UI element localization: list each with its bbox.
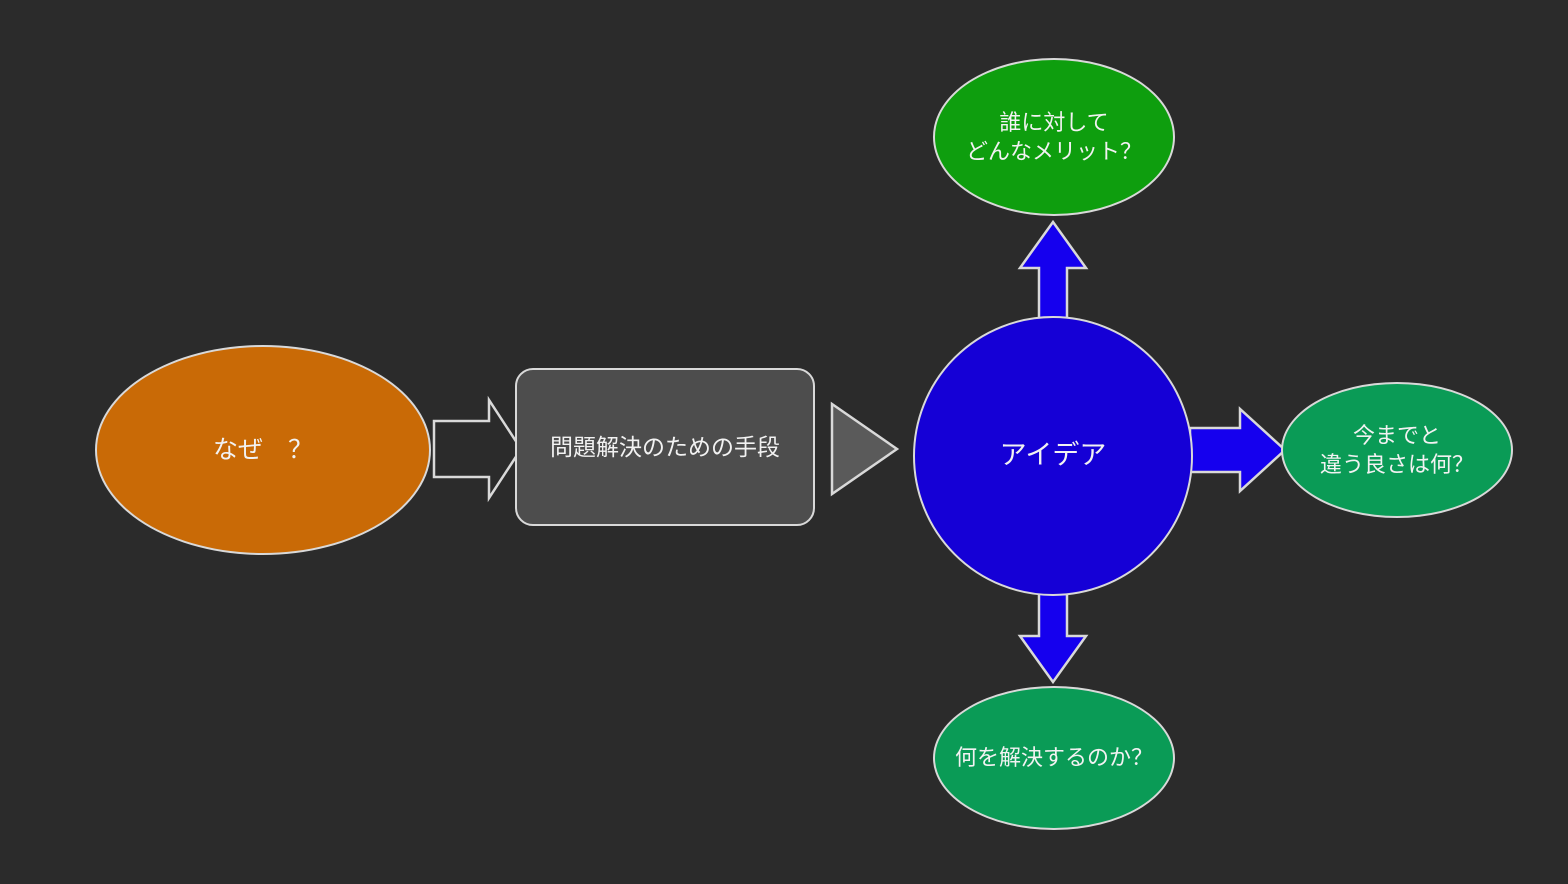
node-problem-solving-means[interactable]: 問題解決のための手段 [515, 368, 815, 526]
node-difference-question[interactable]: 今までと 違う良さは何？ [1281, 382, 1513, 518]
arrow-idea-to-solve [1020, 588, 1086, 682]
arrow-means-to-idea [832, 404, 897, 494]
node-solve-question[interactable]: 何を解決するのか？ [933, 686, 1175, 830]
arrow-idea-to-diff [1190, 409, 1285, 491]
diagram-canvas: なぜ ？ 問題解決のための手段 アイデア 誰に対して どんなメリット？ 今までと… [0, 0, 1568, 884]
node-merit-question[interactable]: 誰に対して どんなメリット？ [933, 58, 1175, 216]
arrow-why-to-means [434, 400, 521, 498]
node-why[interactable]: なぜ ？ [95, 345, 431, 555]
node-idea[interactable]: アイデア [913, 316, 1193, 596]
arrow-idea-to-merit [1020, 222, 1086, 326]
